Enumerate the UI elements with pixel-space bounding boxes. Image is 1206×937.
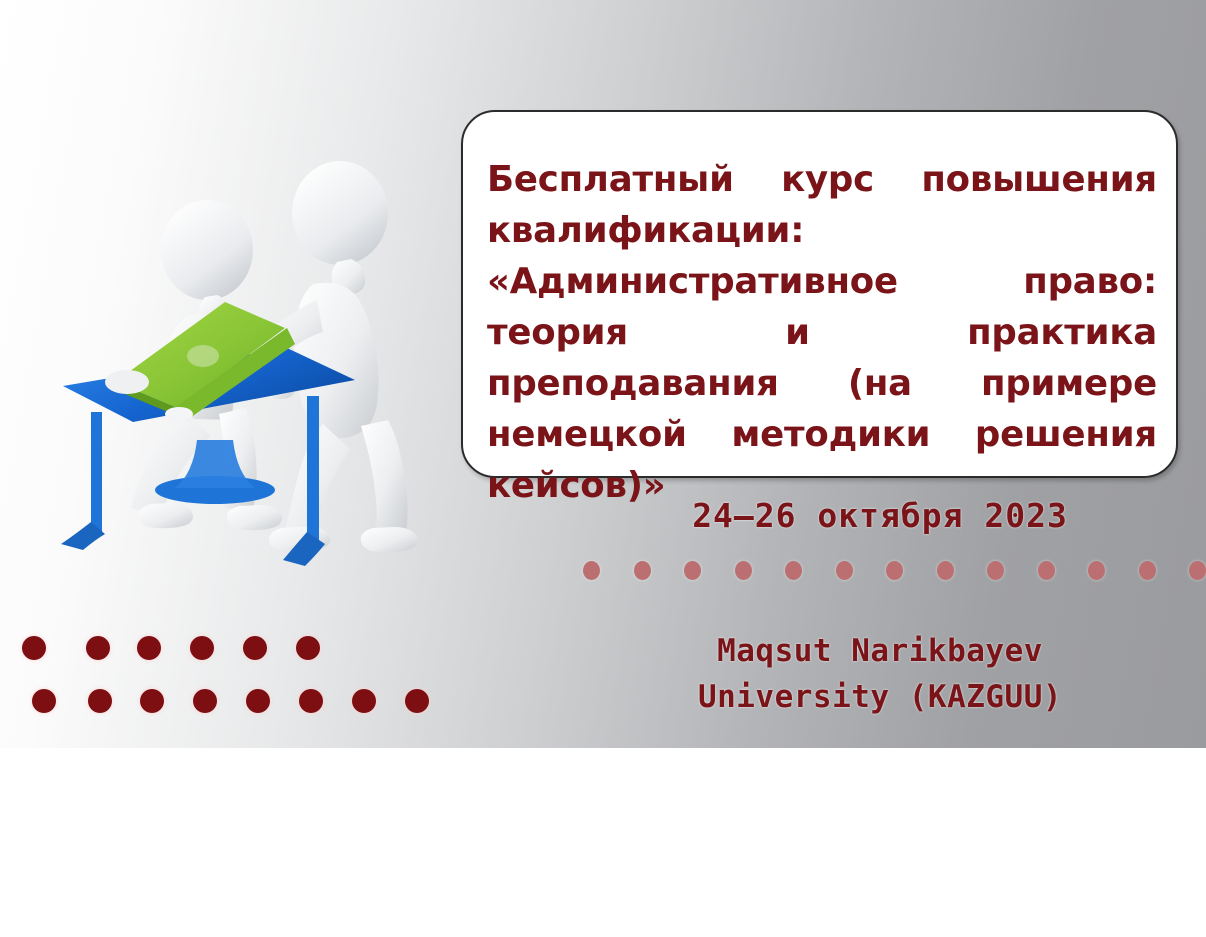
dot-divider-right [583,558,1206,582]
divider-dot [634,561,651,580]
venue-line-2: University (KAZGUU) [640,674,1120,720]
grid-dot [22,636,46,660]
divider-dot [1088,561,1105,580]
divider-dot [684,561,701,580]
divider-dot [785,561,802,580]
grid-dot [140,689,164,713]
poster-root: Бесплатный курс повышения квалификации: … [0,0,1206,937]
dot-grid-left [0,626,460,738]
divider-dot [886,561,903,580]
divider-dot [1038,561,1055,580]
illustration-two-figures-laptop [55,150,475,580]
grid-dot [299,689,323,713]
grid-dot [405,689,429,713]
divider-dot [1139,561,1156,580]
grid-dot [88,689,112,713]
grid-dot [296,636,320,660]
course-title-text: Бесплатный курс повышения квалификации: … [487,154,1157,511]
grid-dot [190,636,214,660]
grid-dot [246,689,270,713]
divider-dot [583,561,600,580]
grid-dot [352,689,376,713]
divider-dot [836,561,853,580]
grid-dot [86,636,110,660]
divider-dot [1189,561,1206,580]
footer-logos: Deutsche Stiftung für Internationale Rec… [0,748,1206,937]
grid-dot [193,689,217,713]
event-date: 24–26 октября 2023 [640,496,1120,535]
grid-dot [243,636,267,660]
title-callout-box: Бесплатный курс повышения квалификации: … [461,110,1178,478]
divider-dot [987,561,1004,580]
grid-dot [137,636,161,660]
grid-dot [32,689,56,713]
divider-dot [937,561,954,580]
venue-line-1: Maqsut Narikbayev [640,628,1120,674]
venue-name: Maqsut Narikbayev University (KAZGUU) [640,628,1120,720]
divider-dot [735,561,752,580]
